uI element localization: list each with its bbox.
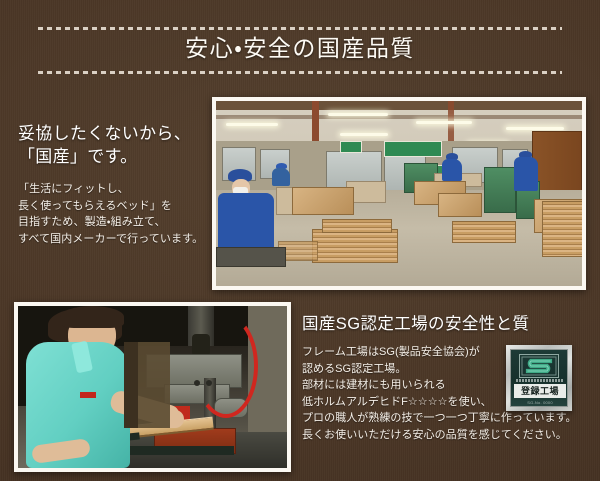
upper-body-line-1: 「生活にフィットし、 xyxy=(18,181,214,198)
upper-body-text: 「生活にフィットし、 長く使ってもらえるベッド」を 目指すため、製造・組み立て、… xyxy=(18,181,214,247)
lower-heading: 国産SG認定工場の安全性と質 xyxy=(302,313,592,335)
sg-s-mark-icon xyxy=(519,354,559,378)
lower-body-line-4: 低ホルムアルデヒドF☆☆☆☆を使い、 xyxy=(302,394,517,411)
lower-body-line-6: 長くお使いいただける安心の品質を感じてください。 xyxy=(302,427,517,444)
upper-heading-line-2: 「国産」です。 xyxy=(18,145,214,168)
lower-body-line-2: 認めるSG認定工場。 xyxy=(302,361,517,378)
craftsman-photo-frame xyxy=(14,302,291,472)
lower-body-line-5: プロの職人が熟練の技で一つ一つ丁寧に作っています。 xyxy=(302,410,517,427)
page-title: 安心・安全の国産品質 xyxy=(0,32,600,66)
upper-text-block: 妥協したくないから、 「国産」です。 「生活にフィットし、 長く使ってもらえるベ… xyxy=(18,122,214,247)
dashed-divider-top xyxy=(38,27,562,30)
marketing-banner: 安心・安全の国産品質 妥協したくないから、 「国産」です。 「生活にフィットし、… xyxy=(0,0,600,481)
sg-plaque-subtext: SG-No. 0000 xyxy=(514,400,566,405)
upper-body-line-4: すべて国内メーカーで行っています。 xyxy=(18,231,214,248)
lower-body-line-1: フレーム工場はSG(製品安全協会)が xyxy=(302,344,517,361)
factory-photo xyxy=(216,101,582,286)
sg-plaque-panel: 登録工場 SG-No. 0000 xyxy=(510,349,568,407)
sg-plaque-label: 登録工場 xyxy=(514,384,566,398)
dashed-divider-bottom xyxy=(38,71,562,74)
sg-micro-text xyxy=(516,379,564,382)
upper-body-line-2: 長く使ってもらえるベッド」を xyxy=(18,198,214,215)
lower-body-line-3: 部材には建材にも用いられる xyxy=(302,377,517,394)
factory-photo-frame xyxy=(212,97,586,290)
upper-heading-line-1: 妥協したくないから、 xyxy=(18,122,214,145)
upper-heading: 妥協したくないから、 「国産」です。 xyxy=(18,122,214,168)
banner-header: 安心・安全の国産品質 xyxy=(0,0,600,92)
sg-certification-plaque: 登録工場 SG-No. 0000 xyxy=(506,345,572,411)
upper-body-line-3: 目指すため、製造・組み立て、 xyxy=(18,214,214,231)
lower-body-text: フレーム工場はSG(製品安全協会)が 認めるSG認定工場。 部材には建材にも用い… xyxy=(302,344,517,443)
craftsman-photo xyxy=(18,306,287,468)
